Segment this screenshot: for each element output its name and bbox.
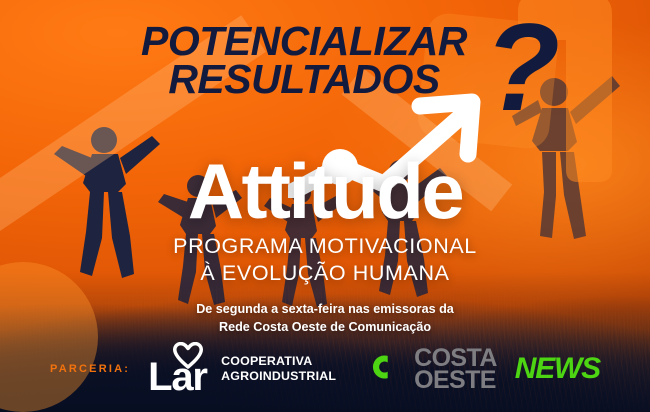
promotional-poster: POTENCIALIZAR RESULTADOS ? Attitude PROG… <box>0 0 650 412</box>
schedule-text: De segunda a sexta-feira nas emissoras d… <box>0 301 650 337</box>
subtitle-line-2: À EVOLUÇÃO HUMANA <box>0 260 650 287</box>
partnership-label: PARCERIA: <box>50 363 130 375</box>
lar-tagline: COOPERATIVA AGROINDUSTRIAL <box>221 354 336 383</box>
schedule-line-1: De segunda a sexta-feira nas emissoras d… <box>0 301 650 319</box>
lar-mark: Lar <box>148 343 212 395</box>
news-wordmark: NEWS <box>515 354 600 384</box>
lar-tagline-line-1: COOPERATIVA <box>221 354 336 369</box>
lar-logo: Lar COOPERATIVA AGROINDUSTRIAL <box>148 343 336 395</box>
program-wordmark: Attitude <box>0 152 650 230</box>
question-mark-graphic: ? <box>484 6 554 130</box>
partner-bar: PARCERIA: Lar COOPERATIVA AGROINDUSTRIAL <box>0 338 650 400</box>
subtitle-line-1: PROGRAMA MOTIVACIONAL <box>0 233 650 260</box>
schedule-line-2: Rede Costa Oeste de Comunicação <box>0 319 650 337</box>
costa-oeste-wordmark: COSTA OESTE <box>414 347 497 392</box>
costa-oeste-line-2: OESTE <box>414 369 497 392</box>
costa-oeste-logo: COSTA OESTE <box>360 343 497 396</box>
subtitle: PROGRAMA MOTIVACIONAL À EVOLUÇÃO HUMANA <box>0 233 650 287</box>
costa-oeste-c-icon <box>360 343 408 396</box>
lar-wordmark: Lar <box>148 357 207 397</box>
lar-tagline-line-2: AGROINDUSTRIAL <box>221 369 336 384</box>
